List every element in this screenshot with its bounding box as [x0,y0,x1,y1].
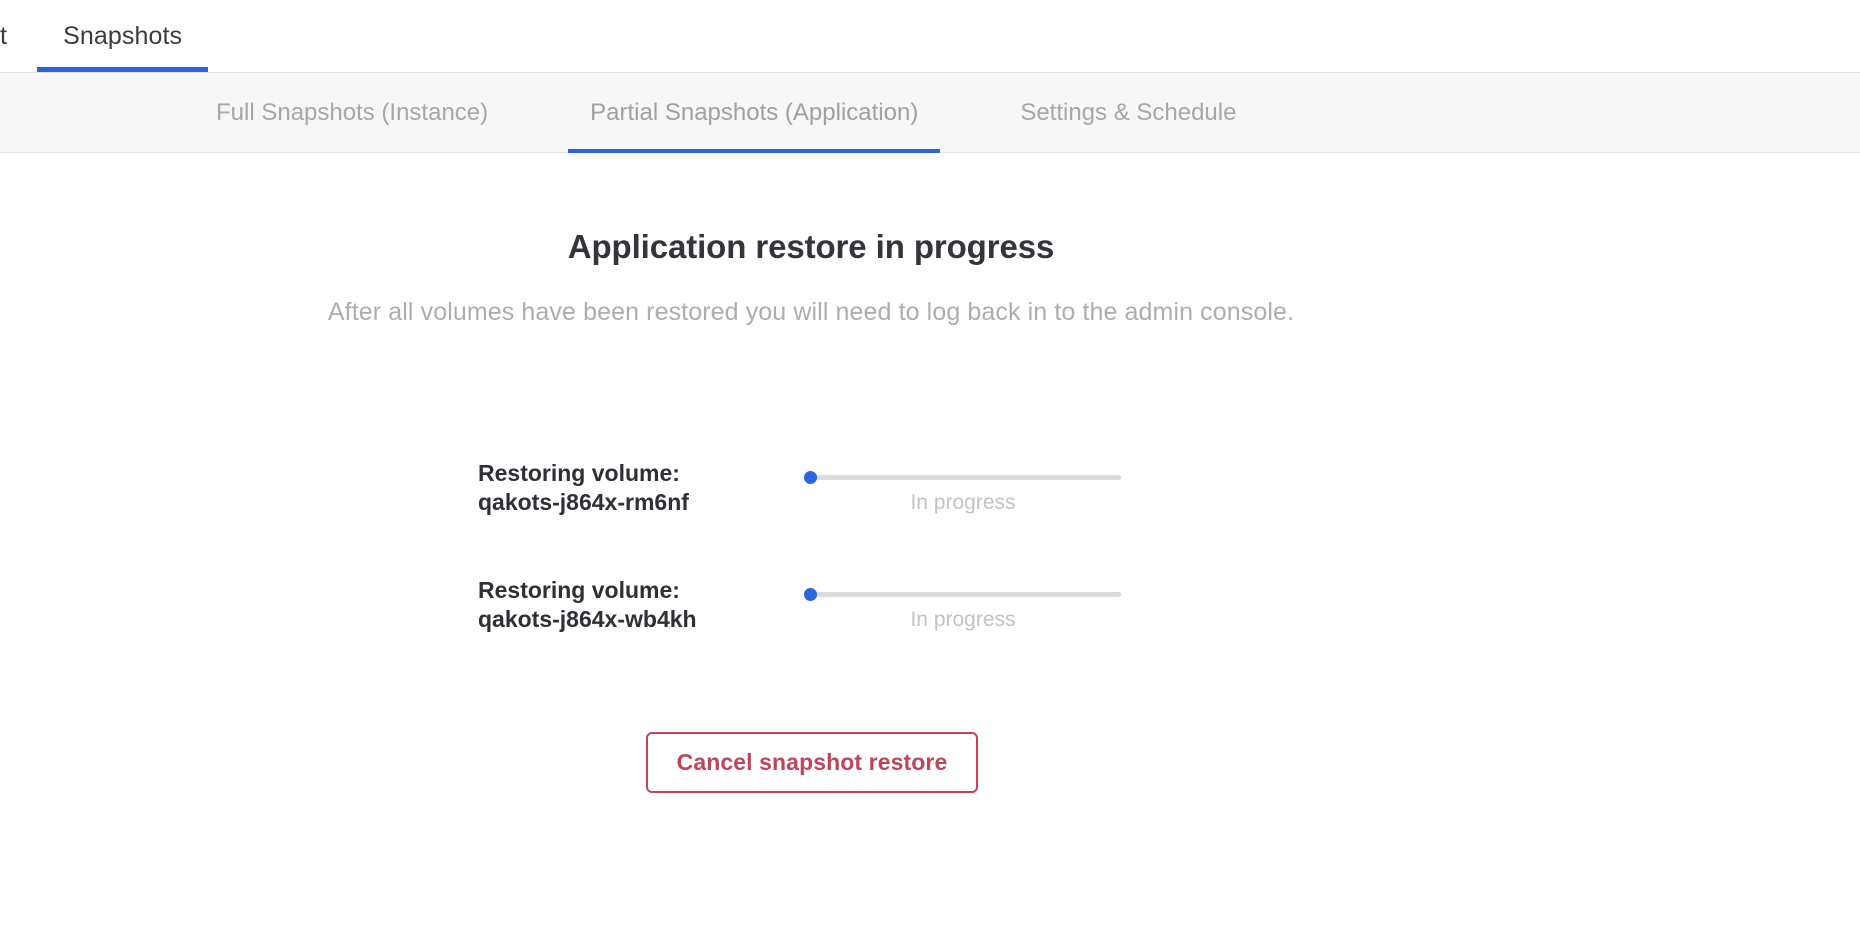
restore-progress-list: Restoring volume: qakots-j864x-rm6nf In … [478,459,1378,693]
subtab-settings-and-schedule[interactable]: Settings & Schedule [980,73,1276,153]
tab-snapshots-label: Snapshots [63,22,182,51]
progress-bar-track [805,475,1121,480]
restore-row: Restoring volume: qakots-j864x-wb4kh In … [478,576,1378,693]
subtab-full-snapshots-instance-label: Full Snapshots (Instance) [216,99,488,127]
restore-label-text: Restoring volume: [478,460,680,486]
page-subtitle: After all volumes have been restored you… [0,298,1622,327]
restore-row: Restoring volume: qakots-j864x-rm6nf In … [478,459,1378,576]
subtab-partial-snapshots-application-label: Partial Snapshots (Application) [590,99,918,127]
cancel-snapshot-restore-label: Cancel snapshot restore [677,749,948,776]
restore-volume-name: qakots-j864x-wb4kh [478,605,798,634]
progress-status-text: In progress [805,608,1121,632]
restore-volume-label: Restoring volume: qakots-j864x-wb4kh [478,576,798,634]
tab-snapshots[interactable]: Snapshots [37,0,208,72]
main-content: Application restore in progress After al… [0,153,1860,952]
progress-indicator-dot [804,588,817,601]
subtab-partial-snapshots-application[interactable]: Partial Snapshots (Application) [550,73,958,153]
progress-status-text: In progress [805,491,1121,515]
progress-bar-track [805,592,1121,597]
restore-progress-wrapper: In progress [805,576,1135,597]
tab-clipped-previous[interactable]: nt [0,0,37,72]
subtab-settings-and-schedule-label: Settings & Schedule [1020,99,1236,127]
subtab-full-snapshots-instance[interactable]: Full Snapshots (Instance) [176,73,528,153]
secondary-tab-bar: Full Snapshots (Instance) Partial Snapsh… [0,72,1860,153]
restore-label-text: Restoring volume: [478,577,680,603]
restore-progress-wrapper: In progress [805,459,1135,480]
page-title: Application restore in progress [0,228,1622,266]
primary-tab-bar: nt Snapshots [0,0,1860,72]
tab-clipped-previous-label: nt [0,22,7,51]
cancel-snapshot-restore-button[interactable]: Cancel snapshot restore [646,732,978,793]
restore-volume-label: Restoring volume: qakots-j864x-rm6nf [478,459,798,517]
progress-indicator-dot [804,471,817,484]
restore-volume-name: qakots-j864x-rm6nf [478,488,798,517]
